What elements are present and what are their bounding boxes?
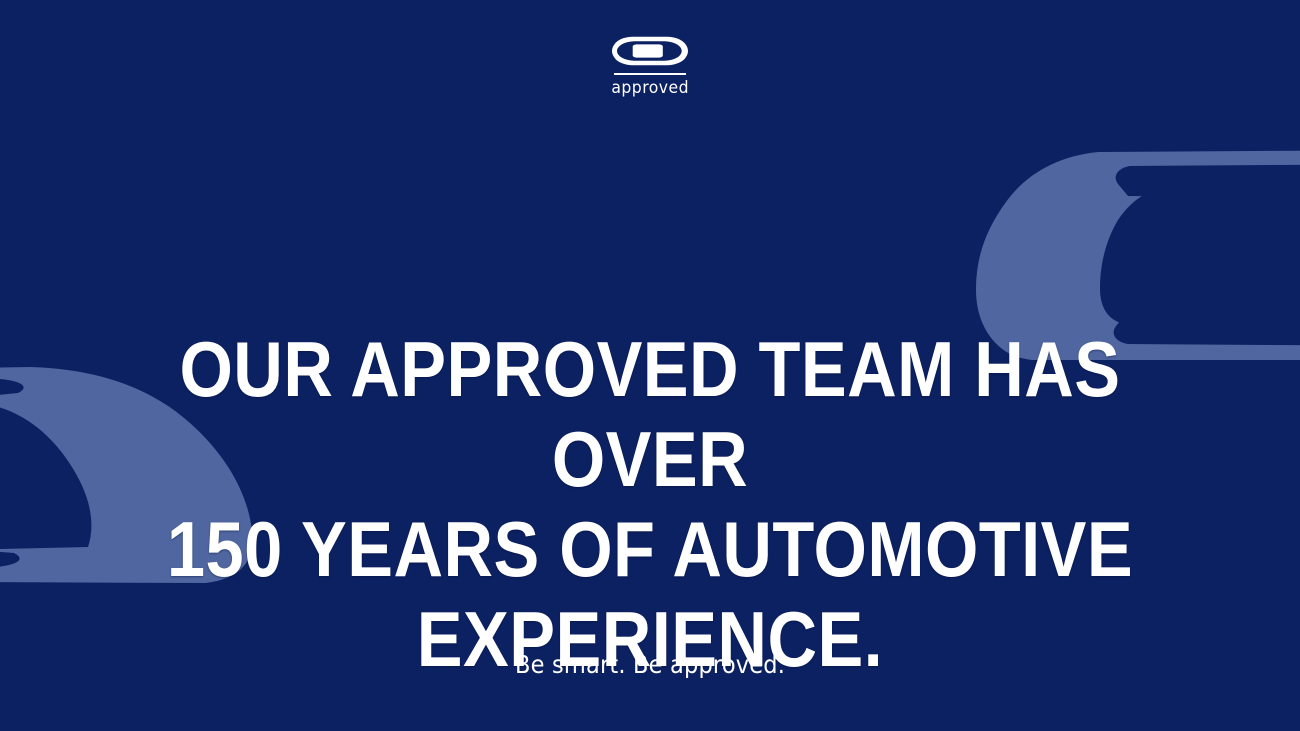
brand-tagline: Be smart. Be approved. [0,652,1300,677]
slide-canvas: approved OUR APPROVED TEAM HAS OVER 150 … [0,0,1300,731]
page-headline: OUR APPROVED TEAM HAS OVER 150 YEARS OF … [0,324,1300,684]
logo-divider [614,73,686,75]
tagline-text: Be smart. Be approved. [515,652,785,677]
car-top-view-icon [612,36,688,66]
headline-line-2: 150 YEARS OF AUTOMOTIVE [157,504,1143,594]
logo-wordmark: approved [611,80,689,97]
brand-logo: approved [0,36,1300,97]
headline-line-1: OUR APPROVED TEAM HAS OVER [157,324,1143,504]
